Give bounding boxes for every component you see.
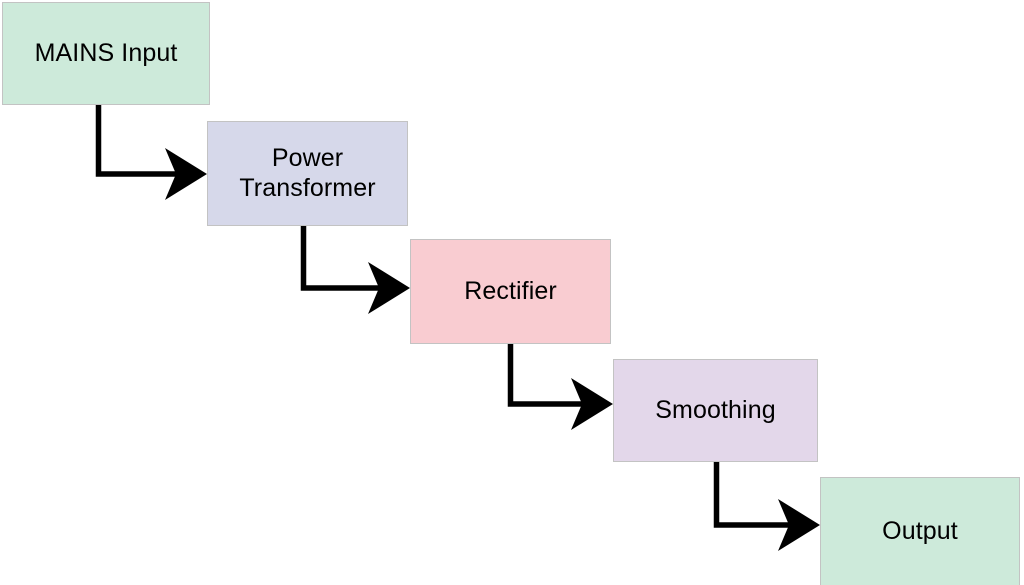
edge-transformer-to-rectifier (304, 226, 411, 314)
node-label: Rectifier (464, 277, 557, 307)
node-power-transformer[interactable]: Power Transformer (207, 121, 408, 226)
node-output[interactable]: Output (820, 477, 1020, 585)
arrowhead-icon (368, 262, 410, 314)
node-smoothing[interactable]: Smoothing (613, 359, 818, 462)
diagram-canvas: MAINS Input Power Transformer Rectifier … (0, 0, 1024, 585)
node-mains-input[interactable]: MAINS Input (2, 2, 210, 105)
arrowhead-icon (571, 378, 613, 430)
node-label: Smoothing (655, 396, 775, 426)
edge-smoothing-to-output (717, 462, 821, 551)
edge-rectifier-to-smoothing (511, 344, 614, 430)
arrowhead-icon (165, 148, 207, 200)
node-label: Power Transformer (239, 144, 375, 203)
node-label: Output (882, 517, 958, 547)
node-rectifier[interactable]: Rectifier (410, 239, 611, 344)
edge-mains-to-transformer (99, 105, 208, 200)
node-label: MAINS Input (35, 39, 178, 69)
arrowhead-icon (778, 499, 820, 551)
